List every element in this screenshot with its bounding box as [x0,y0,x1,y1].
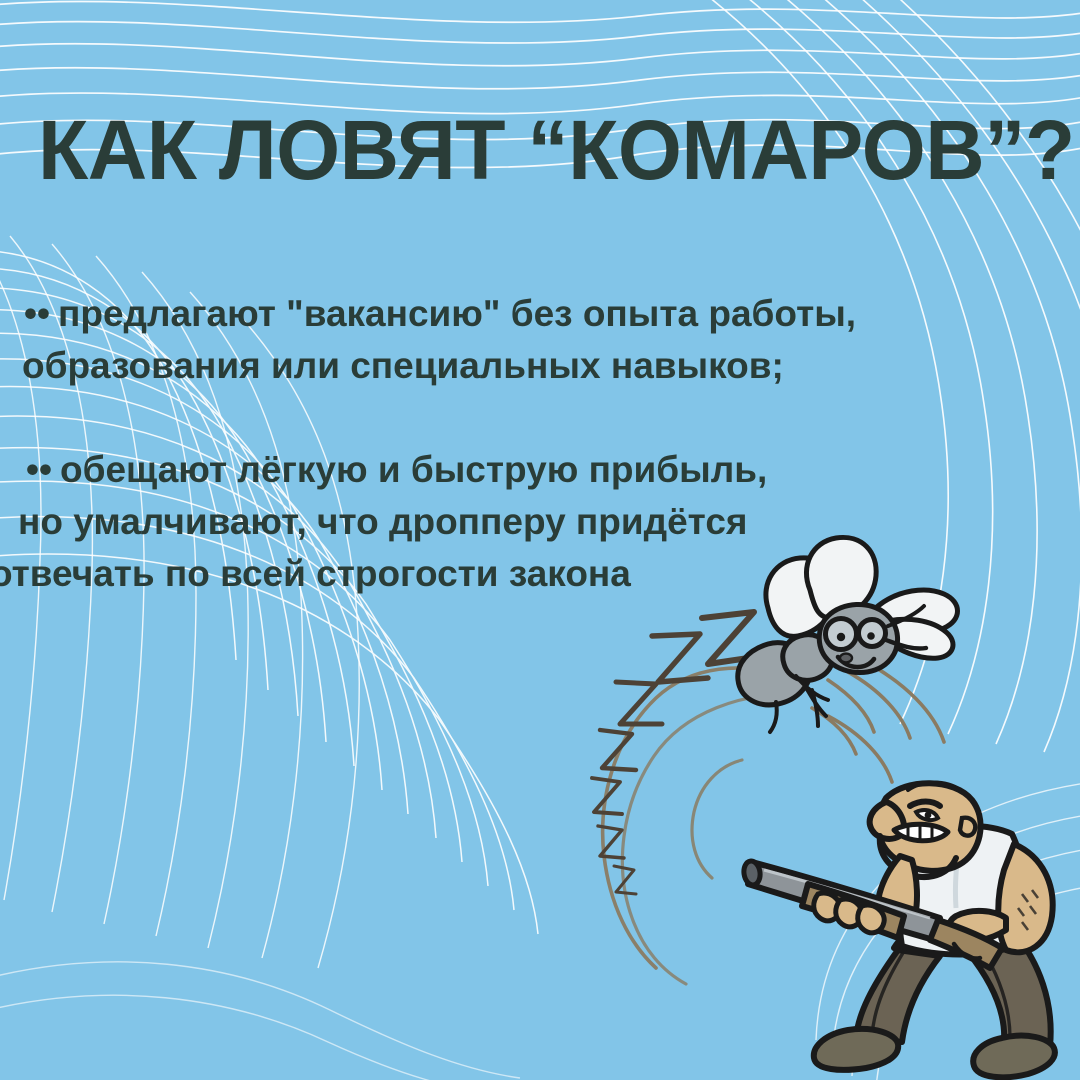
page-title: КАК ЛОВЯТ “КОМАРОВ”? [38,104,1018,196]
bullet-2-line-2: но умалчивают, что дропперу придётся [0,496,1080,548]
bullet-marker-2: • [26,444,60,496]
buzz-arc-lines [812,662,944,782]
bullet-2-line-3: отвечать по всей строгости закона [0,548,1080,600]
bullet-1-line-2: образования или специальных навыков; [0,340,1080,392]
poster-canvas: КАК ЛОВЯТ “КОМАРОВ”? •предлагают "ваканс… [0,0,1080,1080]
front-hand [814,893,884,933]
bullet-2-line-1: обещают лёгкую и быструю прибыль, [60,449,767,490]
bullet-list: •предлагают "вакансию" без опыта работы,… [0,288,1080,600]
bullet-marker-1: • [24,288,58,340]
bullet-item-2: •обещают лёгкую и быструю прибыль, но ум… [0,444,1080,600]
zzzz-letters [592,612,762,894]
bullet-1-line-1: предлагают "вакансию" без опыта работы, [58,293,856,334]
zzzz-buzz-trail [603,668,800,984]
angry-man-with-shotgun [742,783,1054,1078]
bullet-item-1: •предлагают "вакансию" без опыта работы,… [0,288,1080,392]
